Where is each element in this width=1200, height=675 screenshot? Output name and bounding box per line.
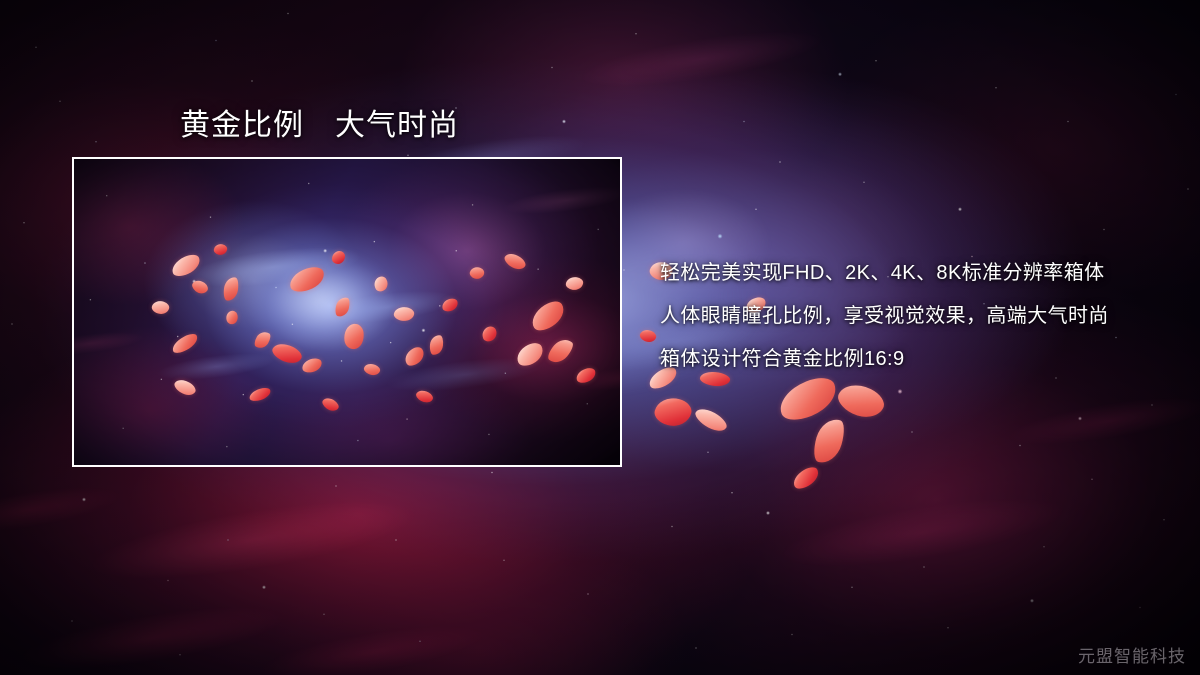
petal-group-framed [74, 159, 620, 465]
petal [545, 335, 576, 367]
petal [502, 250, 528, 273]
petal [527, 297, 569, 335]
petal [248, 386, 272, 403]
framed-nebula-image [72, 157, 622, 467]
petal [342, 323, 365, 351]
petal [213, 243, 228, 256]
petal [480, 325, 499, 344]
petal [270, 339, 304, 367]
watermark-label: 元盟智能科技 [1078, 642, 1186, 667]
body-text-block: 轻松完美实现FHD、2K、4K、8K标准分辨率箱体 人体眼睛瞳孔比例，享受视觉效… [660, 252, 1180, 381]
petal [169, 252, 203, 280]
petal [513, 340, 546, 369]
page-title: 黄金比例 大气时尚 [180, 100, 459, 144]
petal [320, 395, 340, 414]
petal [565, 276, 584, 291]
petal [224, 309, 240, 325]
petal [170, 331, 201, 356]
slide-canvas: 黄金比例 大气时尚 轻松完美实现FHD、2K、4K、8K标准分辨率箱体 人体眼睛… [0, 0, 1200, 675]
petal [150, 299, 170, 317]
petal [190, 277, 210, 296]
petal [363, 361, 382, 377]
body-text-line-2: 人体眼睛瞳孔比例，享受视觉效果，高端大气时尚 [660, 295, 1180, 338]
petal [429, 334, 444, 355]
petal [252, 329, 272, 351]
petal [393, 305, 415, 322]
body-text-line-1: 轻松完美实现FHD、2K、4K、8K标准分辨率箱体 [660, 252, 1180, 295]
petal [287, 264, 328, 295]
petal [402, 344, 428, 368]
petal [468, 265, 485, 281]
petal [222, 276, 239, 302]
petal [414, 388, 434, 406]
petal [172, 376, 198, 399]
petal [332, 251, 345, 264]
petal [334, 296, 351, 319]
petal [301, 357, 323, 374]
petal [574, 366, 597, 385]
petal [371, 274, 390, 293]
body-text-line-3: 箱体设计符合黄金比例16:9 [660, 338, 1180, 381]
petal [441, 297, 459, 313]
